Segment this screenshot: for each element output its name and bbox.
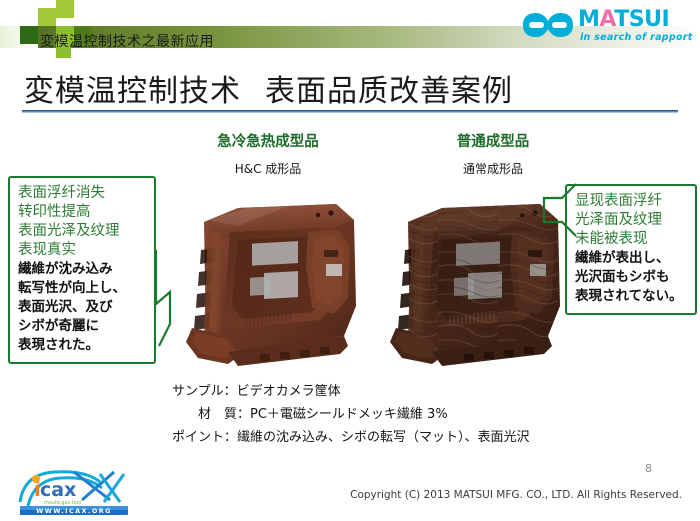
callout-left-jp-4: シボが奇麗に — [18, 317, 147, 336]
caption-right: 普通成型品 通常成形品 — [418, 130, 568, 177]
callout-right-jp-1: 繊維が表出し、 — [575, 249, 688, 268]
header-square-lime-2 — [56, 0, 74, 18]
matsui-tagline: in search of rapport — [580, 32, 693, 43]
spec-row-point: ポイント：繊維の沈み込み、シボの転写（マット）、表面光沢 — [172, 426, 572, 449]
product-photo-left — [168, 186, 373, 374]
callout-right-tail — [540, 182, 578, 256]
callout-left-cn-2: 转印性提高 — [18, 203, 147, 222]
matsui-wordmark-tsui: TSUI — [614, 7, 669, 32]
page-title-part2: 表面品质改善案例 — [265, 74, 513, 109]
matsui-infinity-mark-icon — [522, 11, 574, 43]
header-square-dark-green — [20, 26, 38, 44]
callout-right-jp-3: 表現されてない。 — [575, 287, 688, 306]
callout-right-jp-2: 光沢面もシボも — [575, 268, 688, 287]
matsui-wordmark-a: A — [599, 7, 614, 32]
page-title-part1: 変模温控制技术 — [24, 74, 241, 109]
title-underline — [22, 110, 678, 113]
callout-right-cn-1: 显现表面浮纤 — [575, 192, 688, 211]
header-square-lime-1 — [38, 8, 56, 26]
matsui-logo: MATSUI in search of rapport — [522, 8, 690, 48]
callout-right: 显现表面浮纤 光泽面及纹理 未能被表现 繊維が表出し、 光沢面もシボも 表現され… — [565, 184, 697, 315]
spec-block: サンプル：ビデオカメラ筐体 材 質：PC＋電磁シールドメッキ繊維 3% ポイント… — [172, 380, 572, 449]
caption-left: 急冷急热成型品 H&C 成形品 — [178, 130, 358, 177]
icax-logo[interactable]: i cax mould.gas.tool WWW.ICAX.ORG — [14, 466, 142, 516]
callout-left-jp-5: 表現された。 — [18, 336, 147, 355]
matsui-wordmark-m: M — [578, 7, 599, 32]
svg-text:WWW.ICAX.ORG: WWW.ICAX.ORG — [36, 507, 112, 515]
caption-left-primary: 急冷急热成型品 — [178, 130, 358, 151]
header-subtitle: 変模温控制技术之最新应用 — [40, 31, 214, 51]
callout-left-jp-1: 繊維が沈み込み — [18, 260, 147, 279]
header-square-white-1 — [20, 8, 38, 26]
callout-right-cn-3: 未能被表现 — [575, 230, 688, 249]
callout-left-jp-2: 転写性が向上し、 — [18, 279, 147, 298]
caption-left-secondary: H&C 成形品 — [178, 160, 358, 177]
spec-row-material: 材 質：PC＋電磁シールドメッキ繊維 3% — [172, 403, 572, 426]
caption-right-primary: 普通成型品 — [418, 130, 568, 151]
callout-left-cn-3: 表面光泽及纹理 — [18, 222, 147, 241]
caption-right-secondary: 通常成形品 — [418, 160, 568, 177]
page-number: 8 — [645, 462, 652, 475]
slide: 変模温控制技术之最新应用 MATSUI in search of rapport… — [0, 0, 700, 521]
matsui-wordmark: MATSUI — [578, 8, 669, 32]
callout-left-jp-3: 表面光沢、及び — [18, 298, 147, 317]
callout-right-cn-2: 光泽面及纹理 — [575, 211, 688, 230]
spec-row-sample: サンプル：ビデオカメラ筐体 — [172, 380, 572, 403]
callout-left-tail — [152, 248, 196, 352]
svg-text:cax: cax — [40, 479, 76, 501]
callout-left-cn-4: 表现真实 — [18, 241, 147, 260]
copyright-text: Copyright (C) 2013 MATSUI MFG. CO., LTD.… — [350, 489, 682, 501]
header-square-white-2 — [74, 8, 92, 26]
svg-text:mould.gas.tool: mould.gas.tool — [44, 500, 81, 506]
page-title: 変模温控制技术表面品质改善案例 — [24, 66, 513, 110]
callout-left: 表面浮纤消失 转印性提高 表面光泽及纹理 表现真实 繊維が沈み込み 転写性が向上… — [8, 176, 156, 364]
callout-left-cn-1: 表面浮纤消失 — [18, 184, 147, 203]
